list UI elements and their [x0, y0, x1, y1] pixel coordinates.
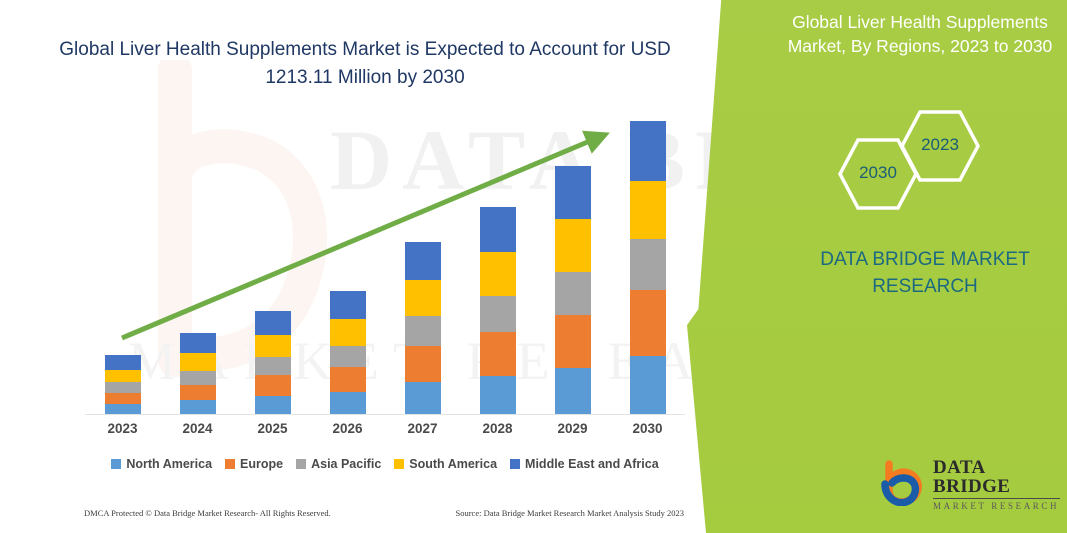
x-axis-label-2028: 2028	[468, 421, 528, 436]
bar-segment	[630, 181, 666, 240]
bar-segment	[105, 393, 141, 405]
plot-area	[85, 110, 685, 415]
bar-group	[85, 110, 685, 415]
bar-segment	[480, 296, 516, 332]
legend-label: South America	[409, 457, 497, 471]
bar-segment	[630, 239, 666, 289]
bar-segment	[255, 396, 291, 415]
bar-segment	[480, 376, 516, 415]
brand-panel-title: Global Liver Health Supplements Market, …	[780, 10, 1060, 58]
legend-item-europe[interactable]: Europe	[225, 457, 283, 471]
bar-segment	[330, 346, 366, 367]
bar-2023	[105, 355, 141, 415]
bar-2026	[330, 291, 366, 415]
bar-segment	[330, 291, 366, 319]
chart-legend: North AmericaEuropeAsia PacificSouth Ame…	[85, 457, 685, 471]
legend-swatch-icon	[394, 459, 404, 469]
bar-2027	[405, 242, 441, 415]
bar-segment	[555, 166, 591, 220]
chart-title: Global Liver Health Supplements Market i…	[55, 36, 675, 92]
logo-wordmark: DATA BRIDGE MARKET RESEARCH	[933, 456, 1060, 511]
legend-label: Europe	[240, 457, 283, 471]
bar-segment	[180, 353, 216, 371]
data-bridge-logo: DATA BRIDGE MARKET RESEARCH	[880, 458, 1060, 508]
bar-segment	[630, 290, 666, 356]
bar-2030	[630, 121, 666, 415]
x-axis-label-2030: 2030	[618, 421, 678, 436]
hexagon-year-2023: 2023	[900, 110, 980, 182]
bar-segment	[630, 121, 666, 181]
bar-segment	[180, 333, 216, 353]
bar-segment	[180, 400, 216, 415]
bar-segment	[480, 332, 516, 376]
bar-segment	[180, 371, 216, 385]
legend-item-south-america[interactable]: South America	[394, 457, 497, 471]
footer-bar: DMCA Protected © Data Bridge Market Rese…	[84, 508, 684, 518]
legend-item-middle-east-and-africa[interactable]: Middle East and Africa	[510, 457, 659, 471]
footer-source: Source: Data Bridge Market Research Mark…	[455, 508, 684, 518]
bar-segment	[405, 316, 441, 345]
legend-label: Asia Pacific	[311, 457, 381, 471]
bar-2029	[555, 166, 591, 415]
bar-segment	[105, 382, 141, 393]
bar-segment	[405, 280, 441, 316]
legend-swatch-icon	[225, 459, 235, 469]
bar-segment	[330, 367, 366, 392]
legend-item-asia-pacific[interactable]: Asia Pacific	[296, 457, 381, 471]
bar-segment	[330, 392, 366, 415]
brand-name-text: DATA BRIDGE MARKET RESEARCH	[790, 246, 1060, 300]
x-axis-label-2023: 2023	[93, 421, 153, 436]
footer-copyright: DMCA Protected © Data Bridge Market Rese…	[84, 508, 331, 518]
logo-line-1: DATA BRIDGE	[933, 458, 1060, 499]
bar-segment	[105, 370, 141, 383]
bar-2024	[180, 333, 216, 415]
bar-segment	[405, 242, 441, 281]
x-axis-label-2029: 2029	[543, 421, 603, 436]
bar-segment	[330, 319, 366, 345]
bar-segment	[480, 252, 516, 296]
x-axis-label-2027: 2027	[393, 421, 453, 436]
bar-segment	[555, 315, 591, 368]
x-axis-label-2025: 2025	[243, 421, 303, 436]
bar-2028	[480, 207, 516, 415]
legend-swatch-icon	[510, 459, 520, 469]
legend-swatch-icon	[296, 459, 306, 469]
x-axis-label-2024: 2024	[168, 421, 228, 436]
bar-segment	[630, 356, 666, 415]
legend-label: Middle East and Africa	[525, 457, 659, 471]
logo-b-icon	[880, 460, 926, 506]
bar-segment	[480, 207, 516, 252]
bar-segment	[555, 368, 591, 415]
bar-segment	[255, 357, 291, 375]
bar-segment	[405, 346, 441, 383]
x-axis-label-2026: 2026	[318, 421, 378, 436]
x-axis-line	[85, 414, 685, 415]
hexagon-label-2023: 2023	[900, 135, 980, 155]
bar-segment	[255, 335, 291, 357]
bar-segment	[555, 219, 591, 272]
bar-segment	[180, 385, 216, 401]
legend-swatch-icon	[111, 459, 121, 469]
x-axis-labels: 20232024202520262027202820292030	[85, 421, 685, 436]
bar-segment	[255, 311, 291, 335]
legend-label: North America	[126, 457, 212, 471]
bar-segment	[405, 382, 441, 415]
bar-2025	[255, 311, 291, 415]
bar-segment	[555, 272, 591, 315]
bar-segment	[255, 375, 291, 396]
legend-item-north-america[interactable]: North America	[111, 457, 212, 471]
logo-line-2: MARKET RESEARCH	[933, 502, 1060, 511]
infographic-canvas: DATA BRIDGE MARKET RESEARCH Global Liver…	[0, 0, 1067, 533]
bar-segment	[105, 355, 141, 370]
